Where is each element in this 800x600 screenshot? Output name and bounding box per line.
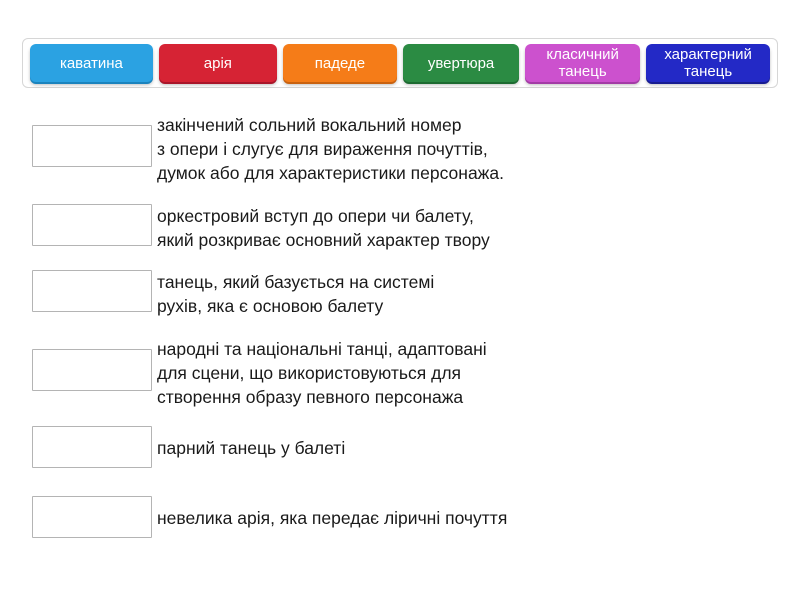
answer-tile[interactable]: арія (159, 44, 277, 82)
answer-tile[interactable]: класичний танець (525, 44, 640, 82)
answer-tile[interactable]: падеде (283, 44, 397, 82)
match-row: оркестровий вступ до опери чи балету, як… (0, 192, 800, 258)
match-row: закінчений сольний вокальний номер з опе… (0, 100, 800, 192)
dropzone[interactable] (32, 125, 152, 167)
answer-tile[interactable]: характерний танець (646, 44, 770, 82)
definition-text: парний танець у балеті (157, 436, 790, 460)
dropzone[interactable] (32, 349, 152, 391)
dropzone[interactable] (32, 426, 152, 468)
definition-text: закінчений сольний вокальний номер з опе… (157, 113, 790, 185)
match-row: невелика арія, яка передає ліричні почут… (0, 486, 800, 548)
definition-text: невелика арія, яка передає ліричні почут… (157, 506, 790, 530)
match-row: парний танець у балеті (0, 416, 800, 478)
answer-tile[interactable]: каватина (30, 44, 153, 82)
definition-text: оркестровий вступ до опери чи балету, як… (157, 204, 790, 252)
match-row: народні та національні танці, адаптовані… (0, 324, 800, 416)
answer-tile-tray: каватинааріяпадедеувертюракласичний тане… (22, 38, 778, 88)
dropzone[interactable] (32, 496, 152, 538)
dropzone[interactable] (32, 204, 152, 246)
dropzone[interactable] (32, 270, 152, 312)
definition-text: народні та національні танці, адаптовані… (157, 337, 790, 409)
answer-tile[interactable]: увертюра (403, 44, 519, 82)
definition-text: танець, який базується на системі рухів,… (157, 270, 790, 318)
match-row: танець, який базується на системі рухів,… (0, 258, 800, 324)
